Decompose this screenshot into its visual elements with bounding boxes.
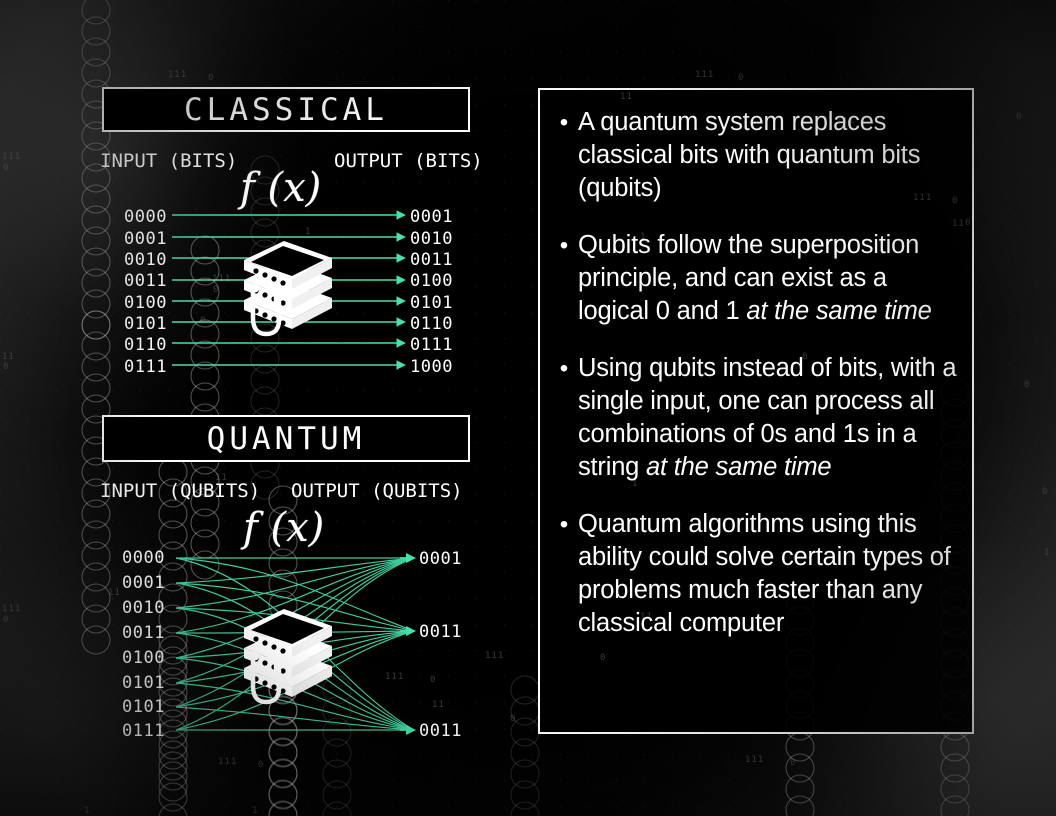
bincode: 0101: [124, 314, 167, 334]
classical-function-label: f (x): [240, 165, 321, 211]
bincode: 0000: [124, 207, 167, 227]
emphasis-text: at the same time: [746, 297, 931, 325]
bullet-list: •A quantum system replaces classical bit…: [550, 106, 958, 640]
bincode: 0001: [419, 549, 462, 569]
bullet-text: Using qubits instead of bits, with a sin…: [578, 352, 958, 484]
quantum-input-label: INPUT (QUBITS): [100, 480, 260, 502]
emphasis-text: at the same time: [646, 453, 831, 481]
bullet-text: Qubits follow the superposition principl…: [578, 229, 958, 328]
plain-text: Quantum algorithms using this ability co…: [578, 510, 951, 637]
bincode: 0001: [410, 207, 453, 227]
bincode: 0111: [122, 721, 165, 741]
bincode: 0010: [410, 229, 453, 249]
quantum-title-box: QUANTUM: [102, 415, 470, 462]
bincode: 0011: [124, 271, 167, 291]
bincode: 1000: [410, 357, 453, 377]
classical-title-box: CLASSICAL: [102, 87, 470, 132]
bullet-point-icon: •: [550, 229, 578, 262]
explanation-panel: •A quantum system replaces classical bit…: [538, 88, 974, 734]
bincode: 0111: [410, 335, 453, 355]
bincode: 0011: [410, 250, 453, 270]
bincode: 0001: [124, 229, 167, 249]
bullet-text: A quantum system replaces classical bits…: [578, 106, 958, 205]
bincode: 0001: [122, 573, 165, 593]
bincode: 0011: [419, 721, 462, 741]
bincode: 0011: [419, 622, 462, 642]
bincode: 0110: [410, 314, 453, 334]
bincode: 0101: [122, 697, 165, 717]
bincode: 0101: [122, 673, 165, 693]
bincode: 0011: [122, 623, 165, 643]
plain-text: A quantum system replaces classical bits…: [578, 108, 920, 202]
quantum-function-label: f (x): [243, 505, 324, 551]
bullet-qubits-replace-bits: •A quantum system replaces classical bit…: [550, 106, 958, 205]
classical-input-label: INPUT (BITS): [100, 150, 237, 172]
bullet-parallel-processing: •Using qubits instead of bits, with a si…: [550, 352, 958, 484]
bullet-point-icon: •: [550, 106, 578, 139]
bullet-text: Quantum algorithms using this ability co…: [578, 508, 958, 640]
bullet-algorithms-faster: •Quantum algorithms using this ability c…: [550, 508, 958, 640]
quantum-title-text: QUANTUM: [207, 421, 366, 457]
bincode: 0111: [124, 357, 167, 377]
bincode: 0100: [410, 271, 453, 291]
slide-canvas: CLASSICAL INPUT (BITS) OUTPUT (BITS) f (…: [0, 0, 1056, 816]
classical-title-text: CLASSICAL: [184, 92, 388, 128]
quantum-output-label: OUTPUT (QUBITS): [291, 480, 463, 502]
classical-server-stack-icon: [236, 240, 340, 340]
bincode: 0101: [410, 293, 453, 313]
classical-output-label: OUTPUT (BITS): [334, 150, 483, 172]
bincode: 0010: [124, 250, 167, 270]
bincode: 0100: [124, 293, 167, 313]
bullet-point-icon: •: [550, 352, 578, 385]
bincode: 0000: [122, 548, 165, 568]
quantum-server-stack-icon: [236, 608, 340, 708]
bincode: 0100: [122, 648, 165, 668]
bullet-superposition: •Qubits follow the superposition princip…: [550, 229, 958, 328]
bincode: 0010: [122, 598, 165, 618]
bincode: 0110: [124, 335, 167, 355]
bullet-point-icon: •: [550, 508, 578, 541]
